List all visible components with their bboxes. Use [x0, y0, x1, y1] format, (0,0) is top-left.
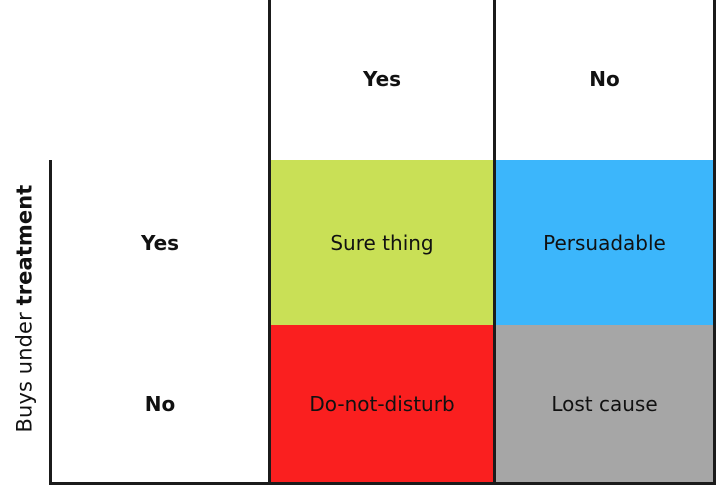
y-axis-label: Buys under treatment [0, 0, 49, 497]
column-header-no: No [493, 0, 716, 163]
column-header-yes-label: Yes [357, 68, 407, 90]
quadrant-lost-cause: Lost cause [493, 325, 716, 485]
y-axis-label-text: Buys under treatment [14, 185, 35, 433]
row-header-yes-label: Yes [135, 232, 185, 254]
y-axis-label-plain: Buys under [12, 305, 36, 432]
matrix-grid: Yes No Yes Sure thing Persuadable No Do-… [49, 0, 716, 482]
quadrant-persuadable: Persuadable [493, 160, 716, 328]
quadrant-sure-thing: Sure thing [268, 160, 496, 328]
row-header-yes: Yes [49, 160, 271, 328]
quadrant-sure-thing-label: Sure thing [324, 232, 439, 254]
row-header-no-label: No [139, 393, 181, 415]
quadrant-lost-cause-label: Lost cause [545, 393, 663, 415]
column-header-no-label: No [583, 68, 625, 90]
column-header-yes: Yes [268, 0, 496, 163]
row-header-no: No [49, 325, 271, 485]
quadrant-persuadable-label: Persuadable [537, 232, 672, 254]
y-axis-label-strong: treatment [12, 185, 36, 306]
quadrant-do-not-disturb: Do-not-disturb [268, 325, 496, 485]
quadrant-do-not-disturb-label: Do-not-disturb [303, 393, 460, 415]
uplift-matrix-figure: Buys under treatment Yes No Yes Sure thi… [0, 0, 722, 497]
matrix-corner-cell [49, 0, 271, 163]
